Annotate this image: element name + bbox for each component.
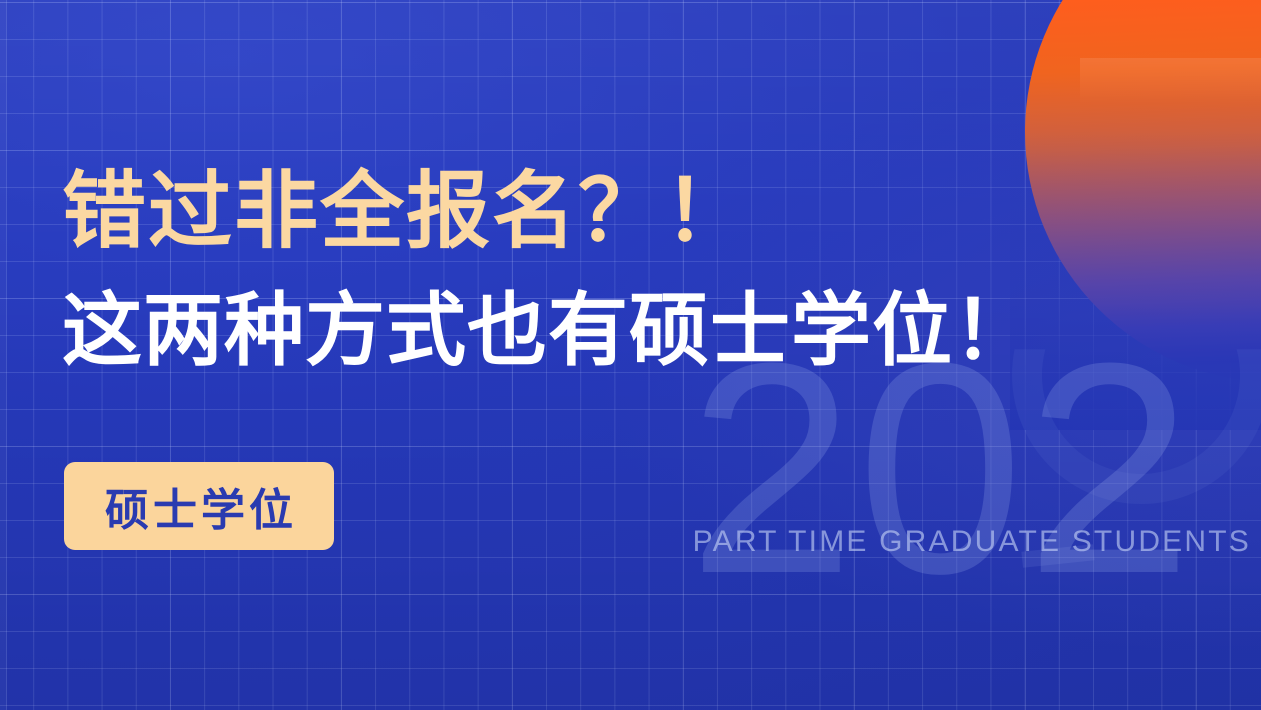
left-edge-rule (6, 0, 7, 710)
headline-block: 错过非全报名？！ 这两种方式也有硕士学位！ (62, 160, 1062, 380)
degree-tag-label: 硕士学位 (101, 474, 297, 538)
headline-line-primary: 错过非全报名？！ (62, 160, 1062, 262)
degree-tag-badge: 硕士学位 (64, 462, 334, 550)
banner-slide: 202 错过非全报名？！ 这两种方式也有硕士学位！ 硕士学位 PART TIME… (0, 0, 1261, 710)
english-subtitle: PART TIME GRADUATE STUDENTS (693, 525, 1251, 559)
headline-line-secondary: 这两种方式也有硕士学位！ (62, 282, 1062, 380)
